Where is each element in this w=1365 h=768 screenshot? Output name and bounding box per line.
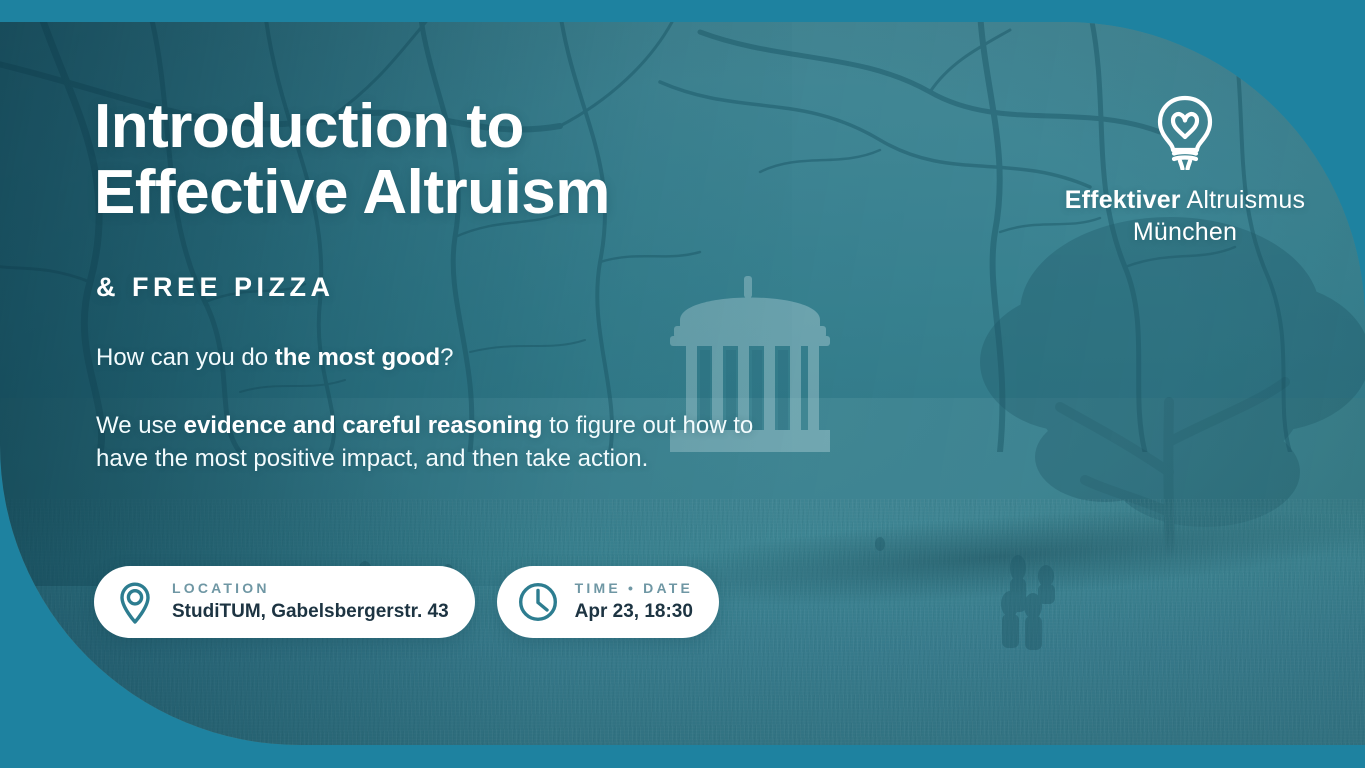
time-date-card-value: Apr 23, 18:30 xyxy=(575,600,693,624)
poster-content: Introduction to Effective Altruism & FRE… xyxy=(0,0,1365,768)
event-poster: Introduction to Effective Altruism & FRE… xyxy=(0,0,1365,768)
location-card-label: LOCATION xyxy=(172,580,449,597)
logo-wordmark: Effektiver Altruismus München xyxy=(1020,184,1350,248)
lightbulb-heart-icon xyxy=(1149,92,1221,170)
headline-line-1: Introduction to xyxy=(94,92,524,161)
headline-line-2: Effective Altruism xyxy=(94,160,610,226)
map-pin-icon xyxy=(112,579,158,625)
logo-name-rest: Altruismus xyxy=(1181,186,1305,214)
time-date-card-text: TIME • DATE Apr 23, 18:30 xyxy=(575,580,693,624)
location-card-value: StudiTUM, Gabelsbergerstr. 43 xyxy=(172,600,449,624)
paragraph-1-text-a: How can you do xyxy=(96,344,275,371)
subheadline: & FREE PIZZA xyxy=(96,272,335,303)
location-card-text: LOCATION StudiTUM, Gabelsbergerstr. 43 xyxy=(172,580,449,624)
paragraph-1-text-c: ? xyxy=(440,344,453,371)
body-paragraph-2: We use evidence and careful reasoning to… xyxy=(96,410,756,475)
time-date-card-label: TIME • DATE xyxy=(575,580,693,597)
paragraph-2-text-a: We use xyxy=(96,412,184,439)
paragraph-2-emphasis: evidence and careful reasoning xyxy=(184,412,543,439)
clock-icon xyxy=(515,579,561,625)
location-card[interactable]: LOCATION StudiTUM, Gabelsbergerstr. 43 xyxy=(94,566,475,638)
logo-city: München xyxy=(1133,218,1237,246)
organization-logo: Effektiver Altruismus München xyxy=(1020,92,1350,248)
time-date-card[interactable]: TIME • DATE Apr 23, 18:30 xyxy=(497,566,719,638)
logo-name-bold: Effektiver xyxy=(1065,186,1181,214)
page-title: Introduction to Effective Altruism xyxy=(94,94,610,227)
paragraph-1-emphasis: the most good xyxy=(275,344,440,371)
body-paragraph-1: How can you do the most good? xyxy=(96,342,453,375)
info-cards: LOCATION StudiTUM, Gabelsbergerstr. 43 T… xyxy=(94,566,719,638)
